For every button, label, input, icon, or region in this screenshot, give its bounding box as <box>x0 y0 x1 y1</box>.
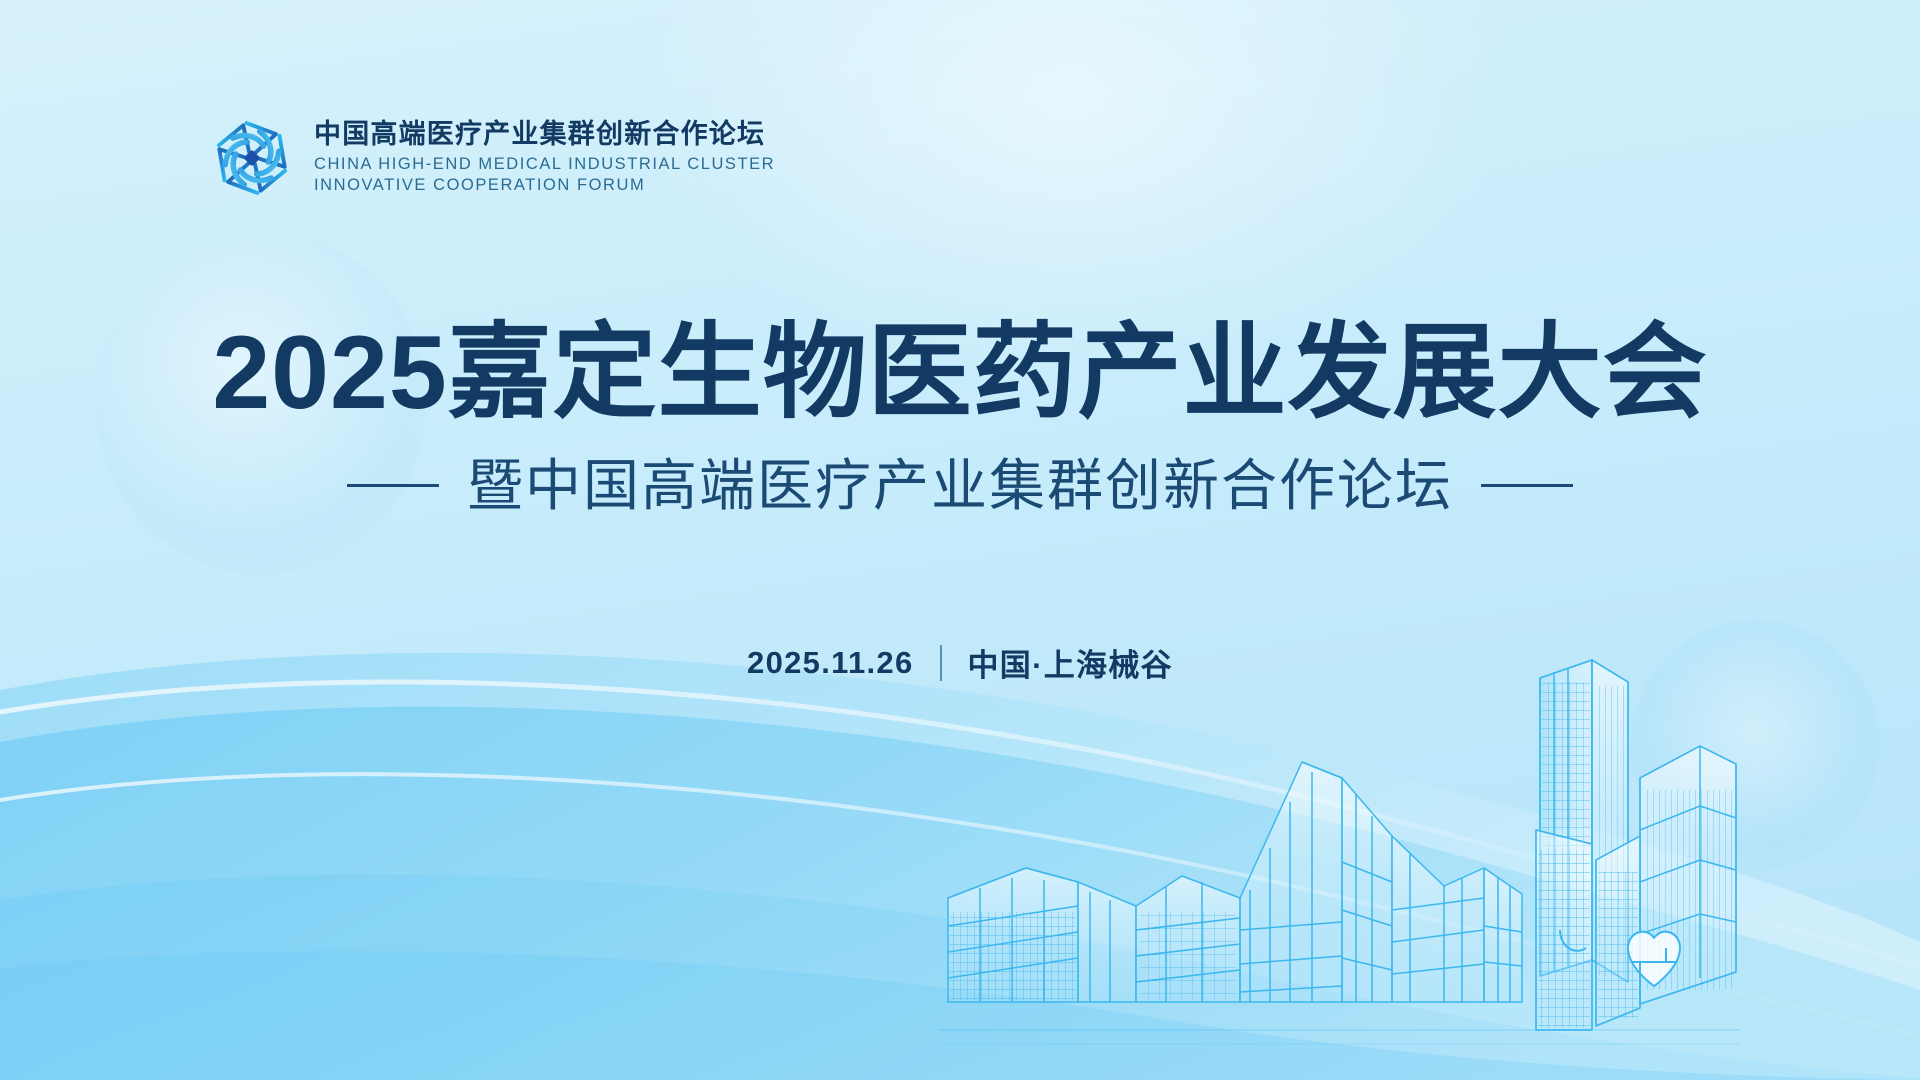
page-title: 2025嘉定生物医药产业发展大会 <box>0 318 1920 428</box>
forum-logo-lockup: 中国高端医疗产业集群创新合作论坛 CHINA HIGH-END MEDICAL … <box>206 112 775 204</box>
conference-banner: 中国高端医疗产业集群创新合作论坛 CHINA HIGH-END MEDICAL … <box>0 0 1920 1080</box>
event-meta-row: 2025.11.26 中国·上海械谷 <box>0 640 1920 685</box>
logo-chinese-name: 中国高端医疗产业集群创新合作论坛 <box>314 119 775 151</box>
logo-text-block: 中国高端医疗产业集群创新合作论坛 CHINA HIGH-END MEDICAL … <box>314 119 775 197</box>
building-secondary-peaked-hall <box>1392 836 1522 1002</box>
subtitle-rule-left <box>347 484 439 487</box>
pinwheel-aperture-logo-icon <box>206 112 298 204</box>
meta-separator <box>940 645 942 681</box>
logo-english-line-1: CHINA HIGH-END MEDICAL INDUSTRIAL CLUSTE… <box>314 154 775 176</box>
heart-icon <box>1628 932 1680 986</box>
event-venue: 中国·上海械谷 <box>968 640 1173 685</box>
headline-text: 2025嘉定生物医药产业发展大会 <box>212 318 1707 428</box>
building-heart-emblem <box>1596 836 1680 1026</box>
event-date: 2025.11.26 <box>747 645 913 681</box>
subtitle-text: 暨中国高端医疗产业集群创新合作论坛 <box>467 452 1453 519</box>
logo-english-line-2: INNOVATIVE COOPERATION FORUM <box>314 175 775 197</box>
building-low-pavilion-left <box>948 868 1078 1002</box>
building-peaked-atrium <box>1240 762 1392 1002</box>
city-skyline-wireframe <box>940 630 1740 1080</box>
building-wide-office-block <box>1640 746 1736 1004</box>
crescent-detail <box>1560 930 1586 951</box>
subtitle-row: 暨中国高端医疗产业集群创新合作论坛 <box>0 452 1920 519</box>
building-tall-tower <box>1536 660 1628 1030</box>
building-stepped-hall <box>1078 876 1240 1002</box>
subtitle-rule-right <box>1481 484 1573 487</box>
